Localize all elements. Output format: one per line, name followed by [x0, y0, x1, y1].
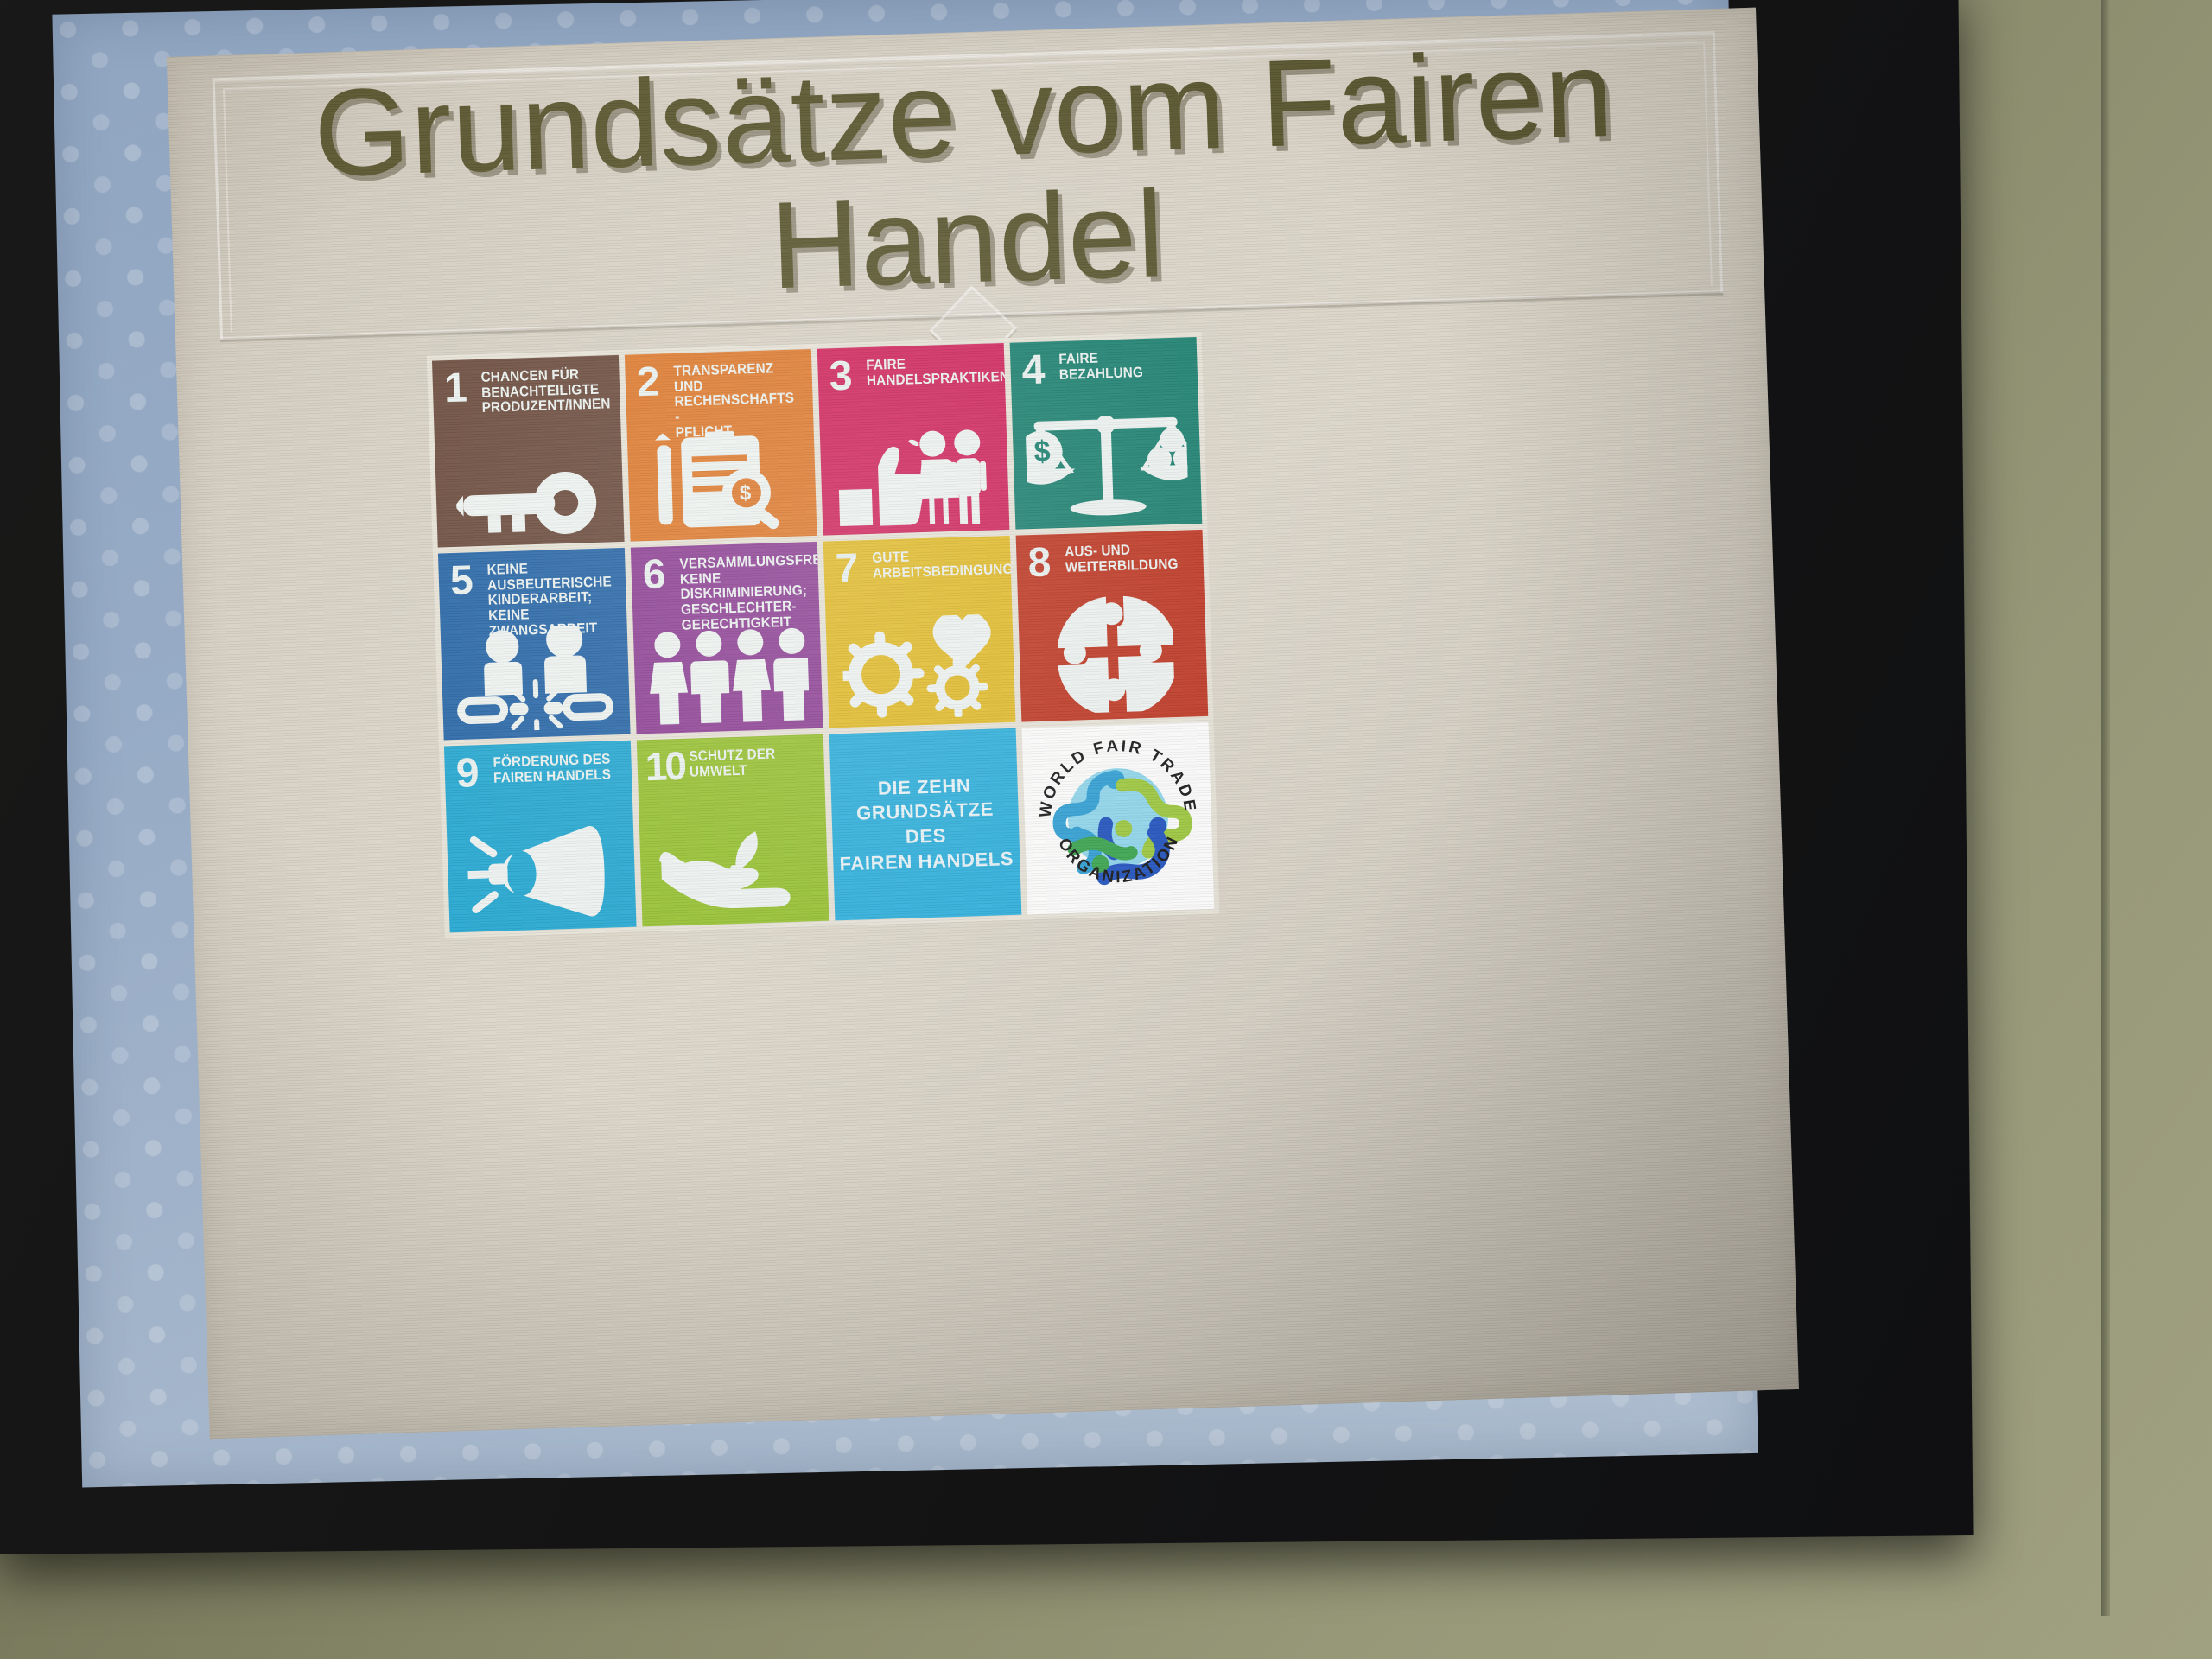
photo-of-projection-screen: Grundsätze vom Fairen Handel 1CHANCEN FÜ…	[0, 0, 2212, 1659]
principle-tile-2: 2TRANSPARENZ UNDRECHENSCHAFTS -PFLICHT $	[625, 349, 817, 542]
gears-heart-icon	[825, 610, 1015, 721]
clipboard-magnifier-icon: $	[627, 423, 817, 535]
broken-chain-people-icon	[441, 622, 631, 734]
principle-tile-5: 5KEINE AUSBEUTERISCHEKINDERARBEIT;KEINE …	[438, 548, 631, 741]
principle-label: CHANCEN FÜRBENACHTEILIGTEPRODUZENT/INNEN	[480, 366, 606, 416]
principle-tile-8: 8AUS- UNDWEITERBILDUNG	[1016, 530, 1209, 722]
principle-label: GUTEARBEITSBEDINGUNGEN	[872, 547, 996, 582]
principle-tile-7: 7GUTEARBEITSBEDINGUNGEN	[823, 536, 1016, 728]
principle-number: 5	[449, 561, 472, 601]
puzzle-circle-icon	[1018, 604, 1208, 715]
caption-text: DIE ZEHNGRUNDSÄTZEDESFAIREN HANDELS	[837, 772, 1014, 877]
principle-number: 2	[636, 363, 658, 403]
principle-number: 6	[642, 555, 664, 594]
screen-frame: Grundsätze vom Fairen Handel 1CHANCEN FÜ…	[0, 0, 1974, 1554]
thumbs-up-people-icon	[819, 417, 1009, 529]
principle-label: FAIREBEZAHLUNG	[1058, 349, 1183, 384]
principle-tile-6: 6VERSAMMLUNGSFREIHEIT;KEINE DISKRIMINIER…	[631, 542, 823, 734]
principle-number: 7	[835, 549, 857, 588]
presentation-slide: Grundsätze vom Fairen Handel 1CHANCEN FÜ…	[167, 8, 1799, 1440]
ten-principles-caption-tile: DIE ZEHNGRUNDSÄTZEDESFAIREN HANDELS	[829, 728, 1022, 921]
hand-sprout-icon	[639, 809, 829, 920]
principle-number: 1	[443, 369, 466, 409]
slide-border-pattern: Grundsätze vom Fairen Handel 1CHANCEN FÜ…	[52, 0, 1758, 1487]
principle-number: 8	[1027, 543, 1050, 582]
principle-label: FÖRDERUNG DESFAIREN HANDELS	[493, 752, 617, 786]
principle-number: 10	[645, 747, 685, 786]
principle-label: FAIREHANDELSPRAKTIKEN	[866, 355, 990, 390]
principle-number: 9	[455, 753, 478, 793]
principle-label: SCHUTZ DERUMWELT	[689, 746, 810, 780]
principle-number: 3	[829, 357, 851, 397]
scales-balance-icon: $	[1012, 411, 1202, 523]
wall-corner-edge	[2101, 0, 2110, 1616]
page-title: Grundsätze vom Fairen Handel	[168, 27, 1764, 328]
principle-label: AUS- UNDWEITERBILDUNG	[1065, 541, 1189, 575]
principle-tile-1: 1CHANCEN FÜRBENACHTEILIGTEPRODUZENT/INNE…	[432, 355, 625, 548]
world-fair-trade-organization-logo: WORLD FAIR TRADE ORGANIZATION	[1022, 722, 1215, 915]
key-icon	[435, 429, 625, 541]
svg-text:$: $	[740, 481, 753, 505]
megaphone-icon	[447, 815, 637, 926]
principle-tile-10: 10SCHUTZ DERUMWELT	[637, 734, 829, 927]
principle-tile-4: 4FAIREBEZAHLUNG $	[1010, 337, 1203, 530]
principle-number: 4	[1021, 351, 1044, 391]
principle-tile-9: 9FÖRDERUNG DESFAIREN HANDELS	[444, 741, 637, 933]
principle-tile-3: 3FAIREHANDELSPRAKTIKEN	[817, 343, 1010, 536]
four-people-icon	[633, 616, 823, 728]
ten-principles-grid: 1CHANCEN FÜRBENACHTEILIGTEPRODUZENT/INNE…	[427, 332, 1220, 938]
svg-text:$: $	[1033, 435, 1051, 468]
